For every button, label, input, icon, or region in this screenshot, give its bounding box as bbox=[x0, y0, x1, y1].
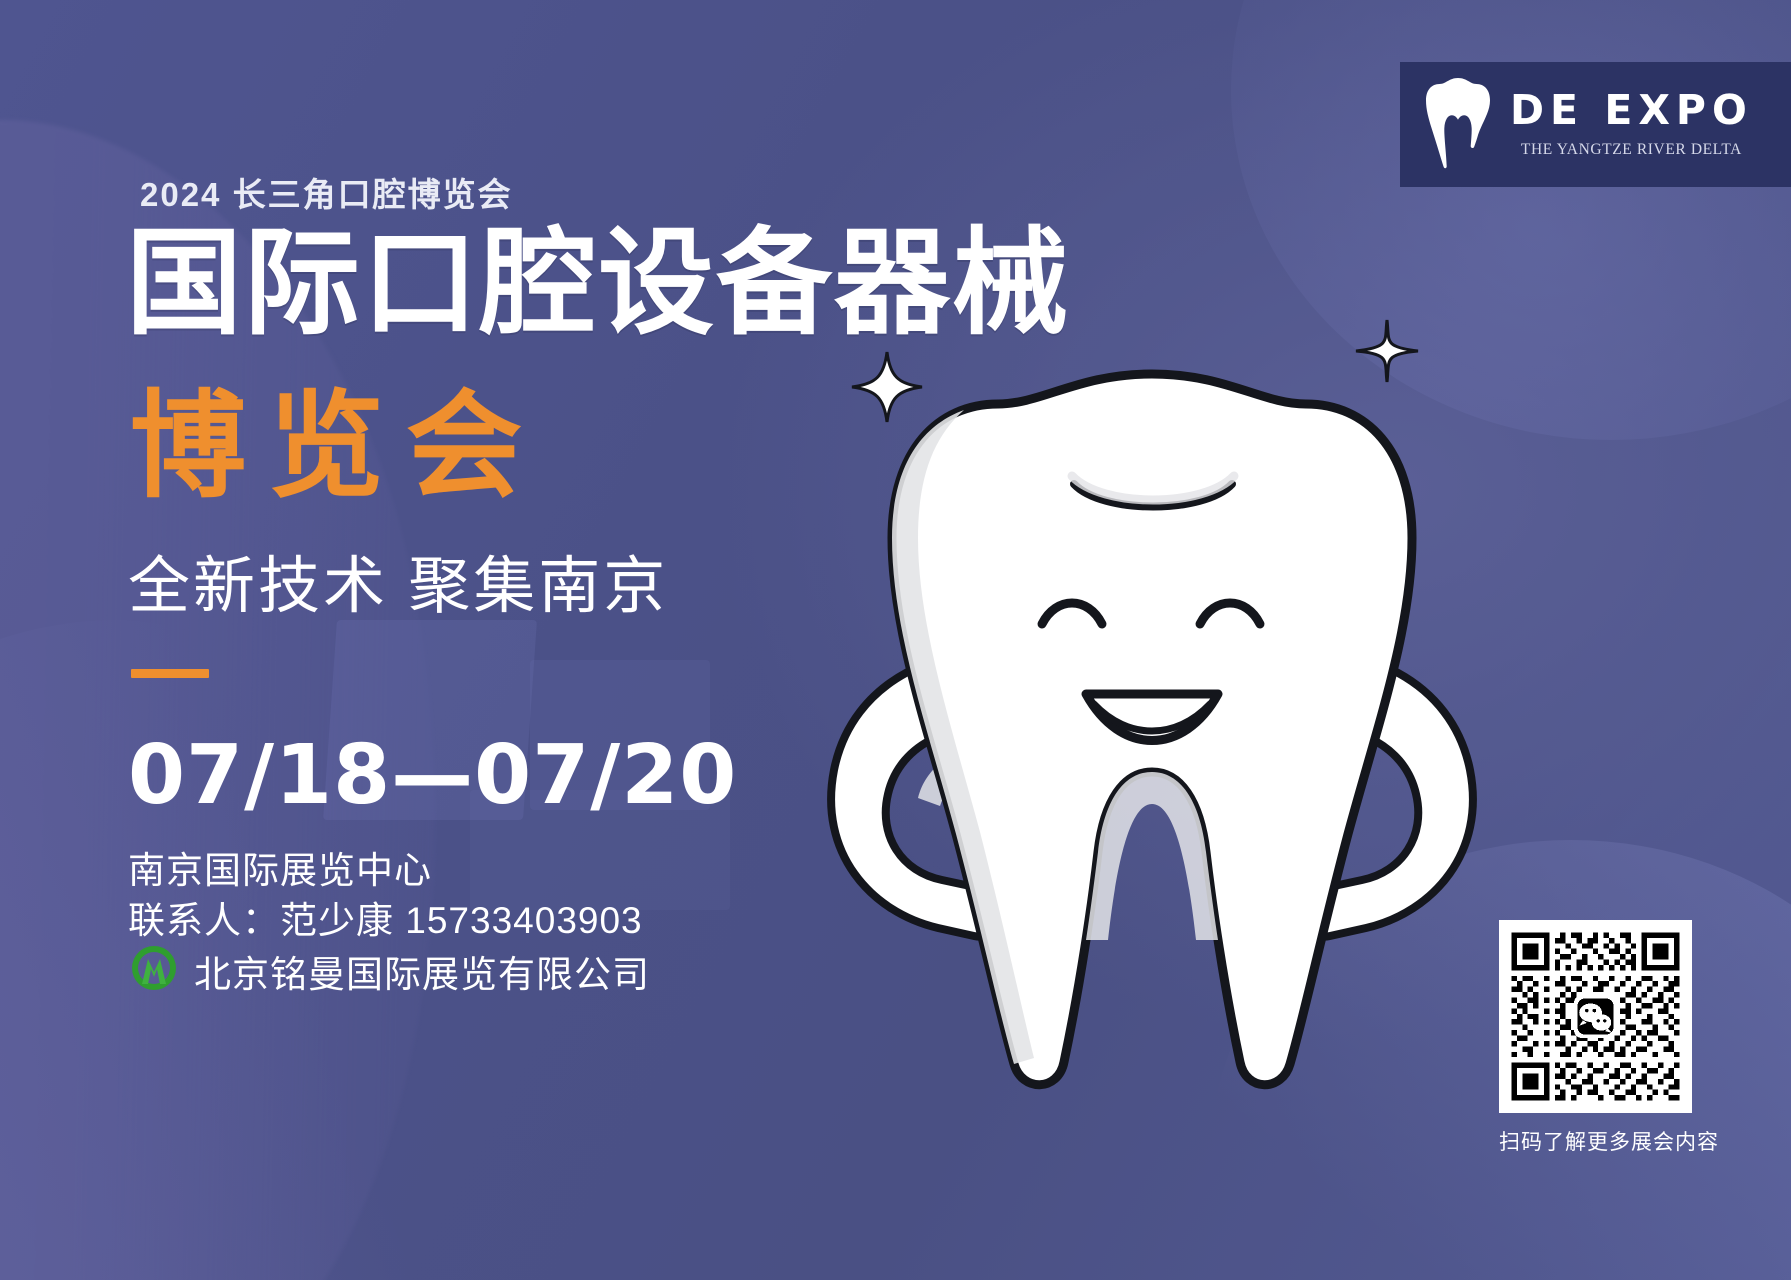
brand-logo-box: DE EXPO THE YANGTZE RIVER DELTA bbox=[1400, 62, 1791, 187]
brand-logo-text: DE EXPO THE YANGTZE RIVER DELTA bbox=[1510, 90, 1753, 159]
sparkle-icon bbox=[850, 350, 924, 424]
eyebrow-text: 2024 长三角口腔博览会 bbox=[140, 168, 513, 216]
organizer-row: 北京铭曼国际展览有限公司 bbox=[128, 942, 650, 999]
promotional-poster: DE EXPO THE YANGTZE RIVER DELTA 2024 长三角… bbox=[0, 0, 1791, 1280]
page-title-accent: 博览会 bbox=[130, 385, 544, 508]
organizer-name: 北京铭曼国际展览有限公司 bbox=[194, 944, 650, 998]
accent-divider bbox=[131, 669, 209, 678]
event-venue: 南京国际展览中心 bbox=[128, 840, 432, 894]
sparkle-icon bbox=[1354, 318, 1420, 384]
organizer-logo-icon bbox=[128, 942, 180, 999]
event-contact: 联系人：范少康 15733403903 bbox=[128, 890, 643, 944]
tooth-icon bbox=[1422, 74, 1494, 175]
brand-subtitle: THE YANGTZE RIVER DELTA bbox=[1521, 141, 1742, 159]
tagline: 全新技术 聚集南京 bbox=[128, 535, 668, 625]
qr-section: 扫码了解更多展会内容 bbox=[1499, 920, 1692, 1156]
qr-caption: 扫码了解更多展会内容 bbox=[1499, 1126, 1692, 1156]
qr-code[interactable] bbox=[1499, 920, 1692, 1113]
event-dates: 07/18—07/20 bbox=[128, 728, 737, 823]
brand-title: DE EXPO bbox=[1510, 90, 1753, 131]
smiling-tooth-mascot bbox=[742, 300, 1562, 1120]
